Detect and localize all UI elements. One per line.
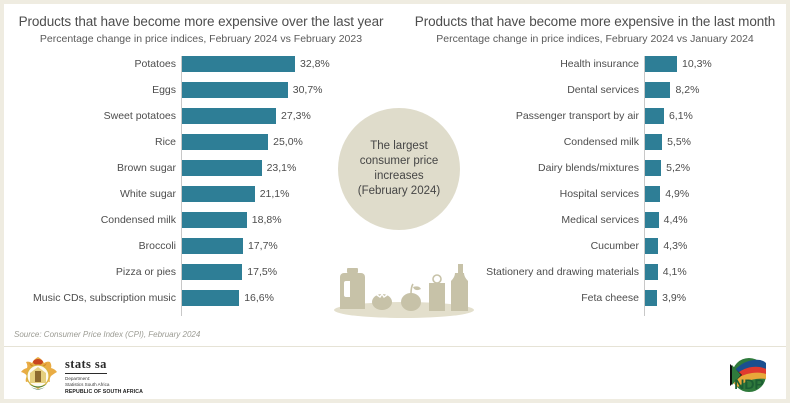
bar [182,160,262,176]
chart-row: Hospital services4,9% [400,186,790,202]
value-label: 25,0% [273,134,303,150]
statssa-name: stats sa [65,357,107,374]
tomato-icon [372,294,392,310]
ndp-emblem-icon: NDP [726,356,772,396]
bar [182,186,255,202]
category-label: Potatoes [6,56,182,72]
bar [182,82,288,98]
chart-row: Dental services8,2% [400,82,790,98]
apple-icon [401,284,421,311]
category-label: Music CDs, subscription music [6,290,182,306]
chart-row: Potatoes32,8% [6,56,396,72]
left-panel-subtitle: Percentage change in price indices, Febr… [6,33,396,45]
chart-row: Condensed milk18,8% [6,212,396,228]
value-label: 10,3% [682,56,712,72]
category-label: Broccoli [6,238,182,254]
category-label: Dental services [400,82,645,98]
category-label: Condensed milk [6,212,182,228]
chart-row: White sugar21,1% [6,186,396,202]
statssa-department: Department: Statistics South Africa [65,376,143,388]
value-label: 17,5% [247,264,277,280]
value-label: 3,9% [662,290,686,306]
bar [645,160,661,176]
chart-row: Eggs30,7% [6,82,396,98]
bar [645,290,657,306]
bar [182,56,295,72]
bar [645,108,664,124]
value-label: 5,5% [667,134,691,150]
category-label: Pizza or pies [6,264,182,280]
category-label: Rice [6,134,182,150]
groceries-illustration [324,256,484,322]
milk-jug-icon [340,268,365,309]
bar [182,212,247,228]
category-label: Eggs [6,82,182,98]
category-label: Brown sugar [6,160,182,176]
footer-divider [4,346,786,347]
bar [645,82,670,98]
bar [182,238,243,254]
statssa-logo: stats sa Department: Statistics South Af… [18,354,143,396]
right-panel-title: Products that have become more expensive… [400,14,790,29]
chart-row: Rice25,0% [6,134,396,150]
bar [182,134,268,150]
value-label: 21,1% [260,186,290,202]
bar [182,264,242,280]
chart-row: Broccoli17,7% [6,238,396,254]
centre-highlight-circle: The largest consumer price increases (Fe… [338,108,460,230]
left-panel-title: Products that have become more expensive… [6,14,396,29]
chart-row: Health insurance10,3% [400,56,790,72]
category-label: Health insurance [400,56,645,72]
value-label: 4,9% [665,186,689,202]
value-label: 6,1% [669,108,693,124]
value-label: 4,3% [663,238,687,254]
bar [645,238,658,254]
can-icon [429,275,445,311]
value-label: 16,6% [244,290,274,306]
category-label: Sweet potatoes [6,108,182,124]
bar [645,134,662,150]
value-label: 23,1% [267,160,297,176]
value-label: 4,1% [663,264,687,280]
chart-row: Cucumber4,3% [400,238,790,254]
bar [645,264,658,280]
source-note: Source: Consumer Price Index (CPI), Febr… [14,330,200,339]
value-label: 8,2% [675,82,699,98]
bar [182,108,276,124]
chart-row: Sweet potatoes27,3% [6,108,396,124]
bar [645,56,677,72]
value-label: 18,8% [252,212,282,228]
value-label: 4,4% [664,212,688,228]
value-label: 32,8% [300,56,330,72]
category-label: White sugar [6,186,182,202]
statssa-wordmark: stats sa Department: Statistics South Af… [65,355,143,395]
value-label: 30,7% [293,82,323,98]
right-panel-subtitle: Percentage change in price indices, Febr… [400,33,790,45]
ndp-logo: NDP [726,356,772,401]
ndp-label: NDP [734,376,764,392]
chart-row: Medical services4,4% [400,212,790,228]
value-label: 5,2% [666,160,690,176]
infographic-root: Products that have become more expensive… [0,0,790,403]
chart-row: Condensed milk5,5% [400,134,790,150]
south-africa-coat-of-arms-icon [18,354,58,396]
groceries-illustration-svg [324,256,484,322]
chart-row: Passenger transport by air6,1% [400,108,790,124]
centre-highlight-text: The largest consumer price increases (Fe… [358,139,440,199]
bottle-icon [451,264,468,311]
bar [645,212,659,228]
bar [182,290,239,306]
bar [645,186,660,202]
statssa-republic: REPUBLIC OF SOUTH AFRICA [65,389,143,395]
value-label: 17,7% [248,238,278,254]
category-label: Cucumber [400,238,645,254]
value-label: 27,3% [281,108,311,124]
